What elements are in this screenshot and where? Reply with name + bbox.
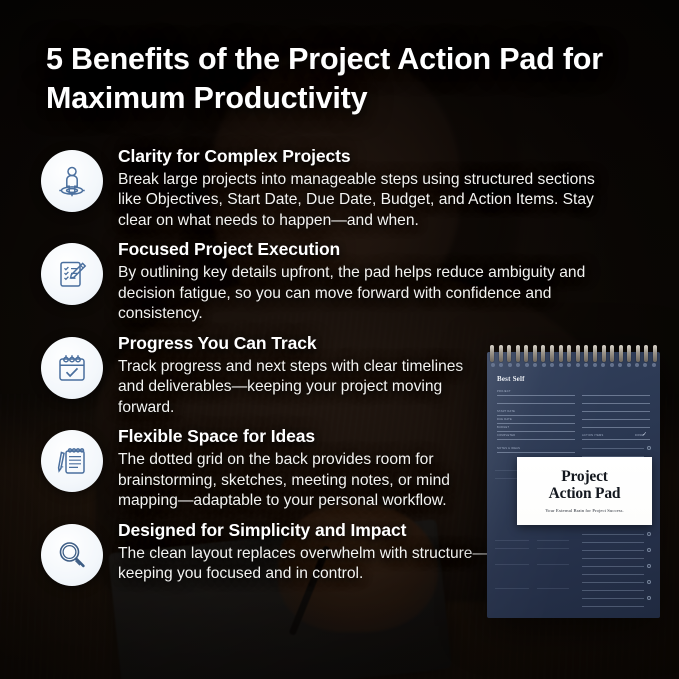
benefit-text: Focused Project Execution By outlining k… xyxy=(118,236,618,324)
checklist-with-pen-icon xyxy=(41,243,103,305)
benefit-body: Break large projects into manageable ste… xyxy=(118,170,618,232)
spiral-binding xyxy=(487,345,660,363)
product-title-card: Project Action Pad Your External Brain f… xyxy=(517,457,652,525)
pad-field-line xyxy=(497,415,575,416)
punch-holes xyxy=(487,363,660,371)
product-title-line2: Action Pad xyxy=(549,486,621,502)
benefit-body: Track progress and next steps with clear… xyxy=(118,357,490,419)
brand-logo: Best Self xyxy=(497,375,525,383)
benefit-body: The dotted grid on the back provides roo… xyxy=(118,450,490,512)
pad-field-label: DUE DATE xyxy=(497,418,512,421)
benefit-text: Progress You Can Track Track progress an… xyxy=(118,330,490,418)
pad-field-line xyxy=(497,423,575,424)
benefit-text: Flexible Space for Ideas The dotted grid… xyxy=(118,423,490,511)
product-tagline: Your External Brain for Project Success. xyxy=(545,508,624,513)
benefit-item: Focused Project Execution By outlining k… xyxy=(0,236,679,324)
page-title: 5 Benefits of the Project Action Pad for… xyxy=(46,40,646,117)
pad-field-line xyxy=(582,403,650,404)
pad-field-line xyxy=(582,395,650,396)
pad-field-line xyxy=(497,403,575,404)
benefit-title: Flexible Space for Ideas xyxy=(118,425,490,448)
pad-check-tick: ✓ xyxy=(642,432,647,438)
magnifying-glass-icon xyxy=(41,524,103,586)
pad-field-label: START DATE xyxy=(497,410,515,413)
pad-field-label: ACTION ITEMS xyxy=(582,434,603,437)
benefit-text: Clarity for Complex Projects Break large… xyxy=(118,143,618,231)
spiral-notepad-pen-icon xyxy=(41,430,103,492)
pad-field-line xyxy=(582,427,650,428)
product-title-line1: Project xyxy=(561,469,608,485)
pad-field-line xyxy=(497,452,575,453)
benefit-title: Clarity for Complex Projects xyxy=(118,145,618,168)
pad-field-line xyxy=(582,439,650,440)
pad-field-label: BUDGET xyxy=(497,426,509,429)
pad-field-label: COMPLETED xyxy=(497,434,515,437)
pad-field-line xyxy=(582,419,650,420)
benefit-text: Designed for Simplicity and Impact The c… xyxy=(118,517,490,585)
calendar-check-icon xyxy=(41,337,103,399)
pad-field-label: NOTES & IDEAS xyxy=(497,447,520,450)
pad-field-line xyxy=(497,439,575,440)
benefit-title: Focused Project Execution xyxy=(118,238,618,261)
benefit-item: Clarity for Complex Projects Break large… xyxy=(0,143,679,231)
person-on-target-icon xyxy=(41,150,103,212)
pad-field-label: PROJECT xyxy=(497,390,511,393)
pad-field-line xyxy=(497,395,575,396)
pad-field-line xyxy=(582,411,650,412)
benefit-title: Progress You Can Track xyxy=(118,332,490,355)
pad-field-line xyxy=(497,431,575,432)
product-image: Best Self PROJECT START DATE DUE DATE BU… xyxy=(487,352,660,618)
benefit-body: The clean layout replaces overwhelm with… xyxy=(118,544,490,585)
benefit-body: By outlining key details upfront, the pa… xyxy=(118,263,618,325)
benefit-title: Designed for Simplicity and Impact xyxy=(118,519,490,542)
